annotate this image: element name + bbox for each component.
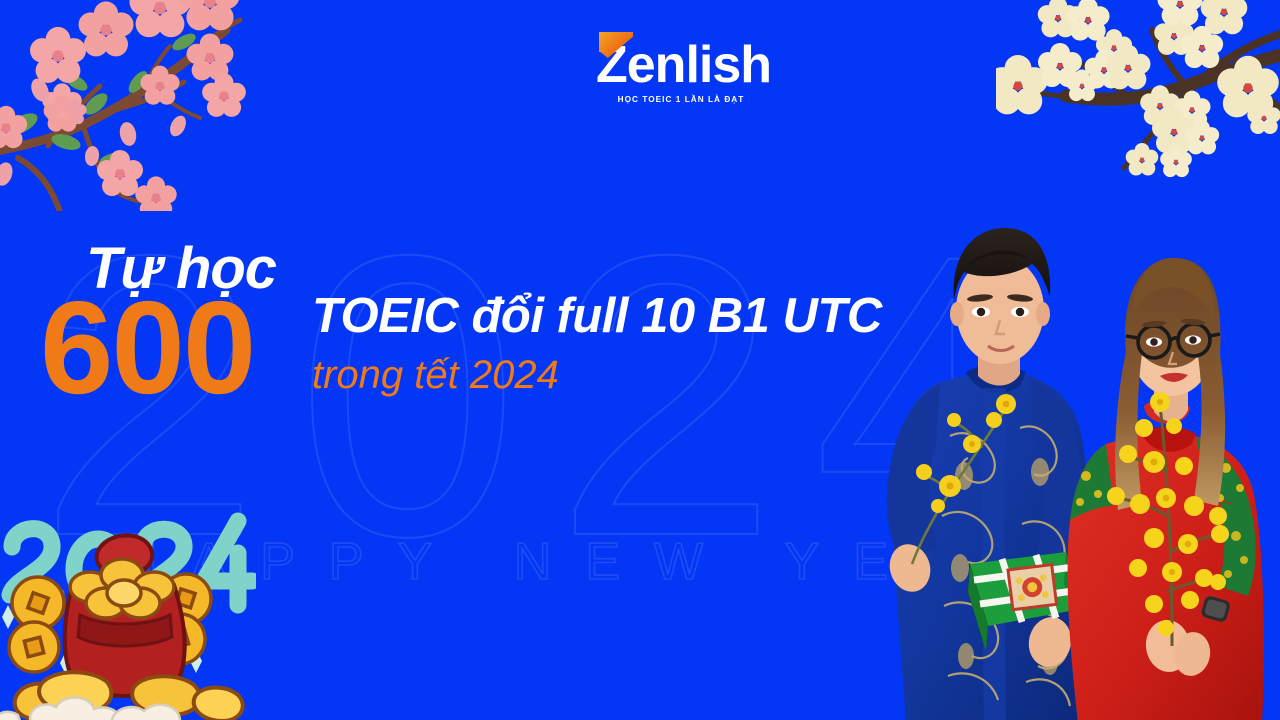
promo-banner: 2024 HAPPY NEW YEAR (0, 0, 1280, 720)
headline-block: Tự học 600 TOEIC đổi full 10 B1 UTC tron… (0, 0, 1280, 720)
headline-line-2: TOEIC đổi full 10 B1 UTC (312, 292, 882, 341)
headline-score: 600 (40, 282, 254, 414)
headline-line-3: trong tết 2024 (312, 355, 559, 395)
